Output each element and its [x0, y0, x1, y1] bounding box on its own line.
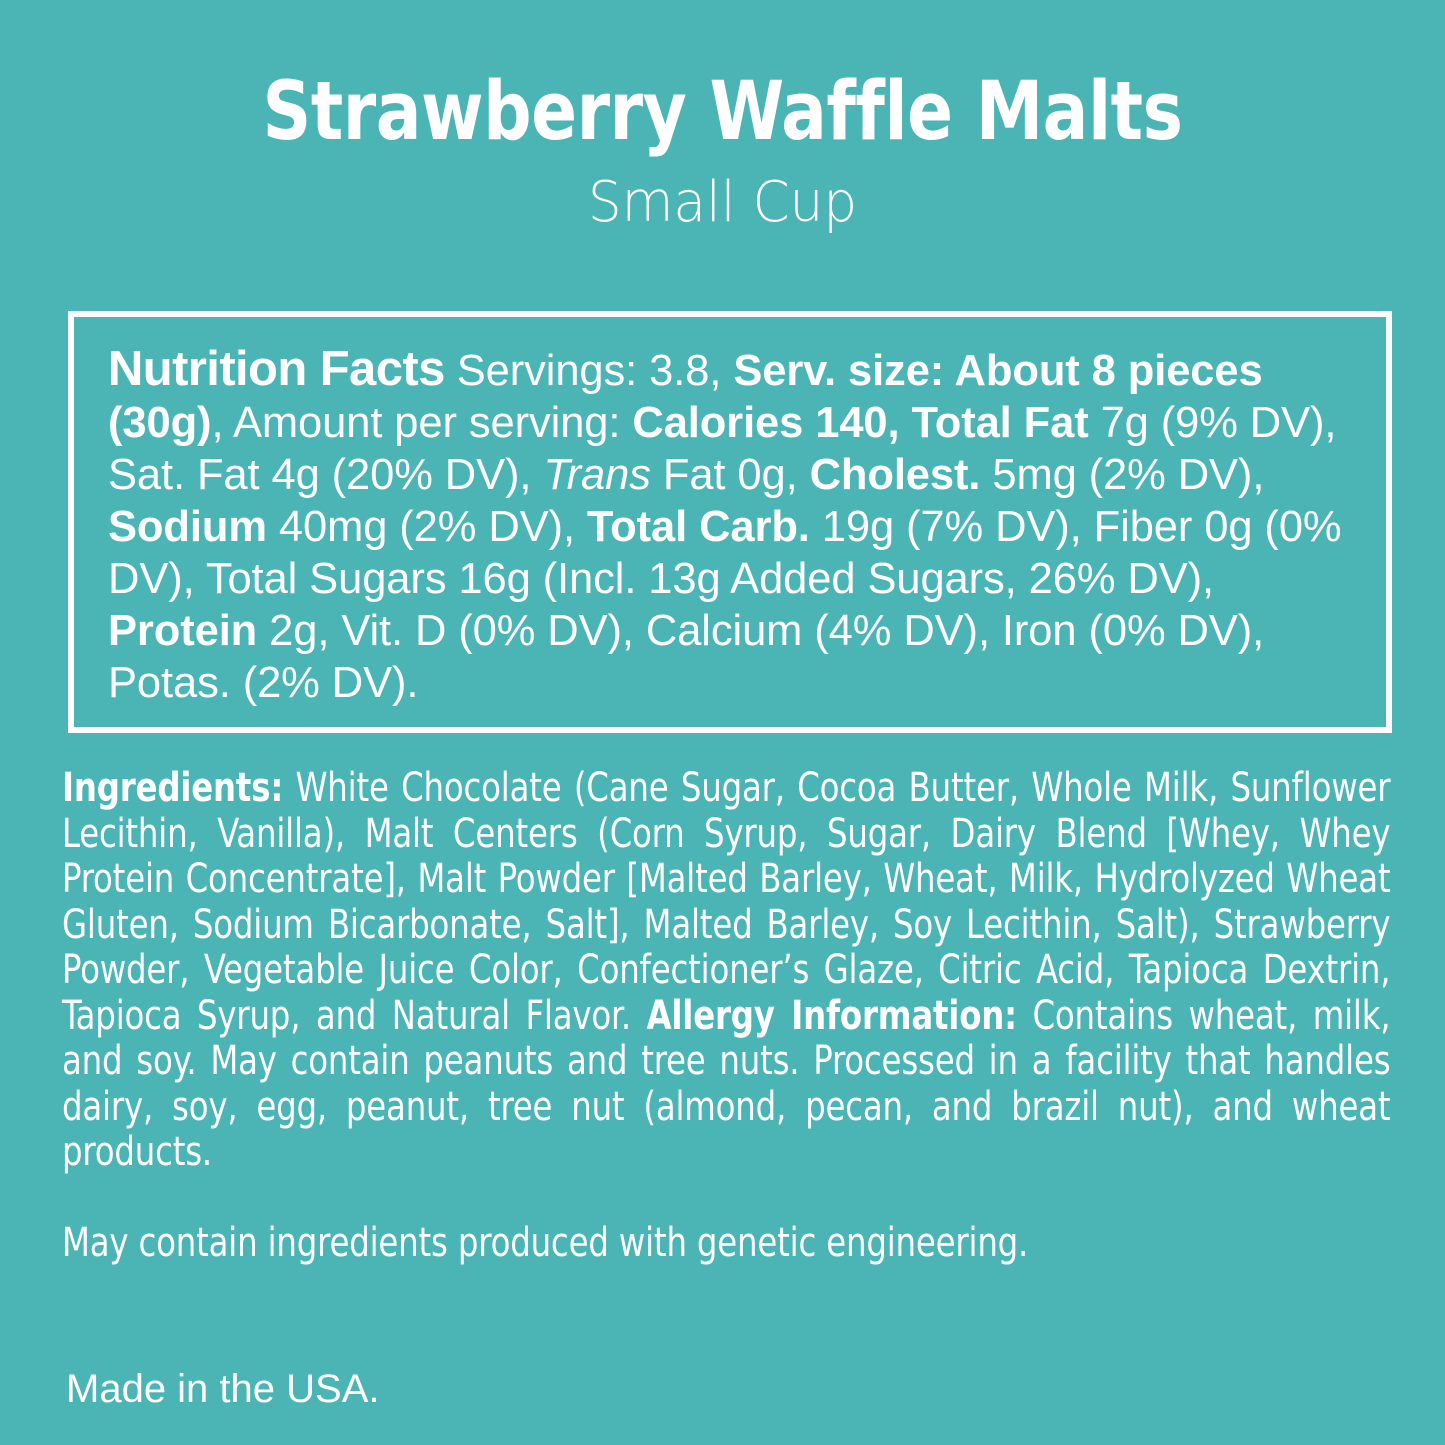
nutrition-spacer-2 [721, 347, 733, 395]
product-header: Strawberry Waffle Malts Small Cup [0, 72, 1445, 231]
ingredients-label: Ingredients: [62, 765, 283, 811]
calcium-value: Calcium (4% DV), [646, 607, 1002, 655]
cholesterol-label: Cholest. [810, 451, 993, 499]
page-title: Strawberry Waffle Malts [51, 72, 1395, 153]
nutrition-spacer-1 [445, 347, 457, 395]
gmo-disclosure: May contain ingredients produced with ge… [62, 1221, 1390, 1267]
total-fat-value: 7g (9% DV), [1101, 399, 1337, 447]
servings-value: Servings: 3.8, [457, 347, 722, 395]
protein-value: 2g, [269, 607, 341, 655]
protein-label: Protein [108, 607, 269, 655]
trans-fat-value: Fat 0g, [651, 451, 810, 499]
ingredients-block: Ingredients: White Chocolate (Cane Sugar… [62, 766, 1390, 1267]
cholesterol-value: 5mg (2% DV), [992, 451, 1264, 499]
nutrition-facts-heading: Nutrition Facts [108, 342, 445, 396]
nutrition-label-page: Strawberry Waffle Malts Small Cup Nutrit… [0, 0, 1445, 1445]
allergy-information-label: Allergy Information: [646, 993, 1016, 1039]
calories-value: Calories 140, [632, 399, 911, 447]
sodium-label: Sodium [108, 503, 279, 551]
potassium-value: Potas. (2% DV). [108, 659, 418, 707]
product-subtitle: Small Cup [36, 175, 1409, 231]
nutrition-facts-text: Nutrition Facts Servings: 3.8, Serv. siz… [108, 343, 1356, 709]
nutrition-facts-box: Nutrition Facts Servings: 3.8, Serv. siz… [68, 311, 1392, 733]
total-fat-label: Total Fat [911, 399, 1100, 447]
ingredients-paragraph: Ingredients: White Chocolate (Cane Sugar… [62, 766, 1390, 1221]
iron-value: Iron (0% DV), [1002, 607, 1264, 655]
saturated-fat-value: Sat. Fat 4g (20% DV), [108, 451, 543, 499]
total-carb-value: 19g (7% DV), [822, 503, 1094, 551]
total-carb-label: Total Carb. [587, 503, 822, 551]
total-sugars-value: Total Sugars 16g (Incl. 13g Added Sugars… [206, 555, 1214, 603]
vitamin-d-value: Vit. D (0% DV), [341, 607, 646, 655]
sodium-value: 40mg (2% DV), [279, 503, 587, 551]
amount-per-serving-label: , Amount per serving: [211, 399, 632, 447]
trans-fat-label: Trans [543, 451, 650, 499]
country-of-origin: Made in the USA. [66, 1366, 380, 1412]
